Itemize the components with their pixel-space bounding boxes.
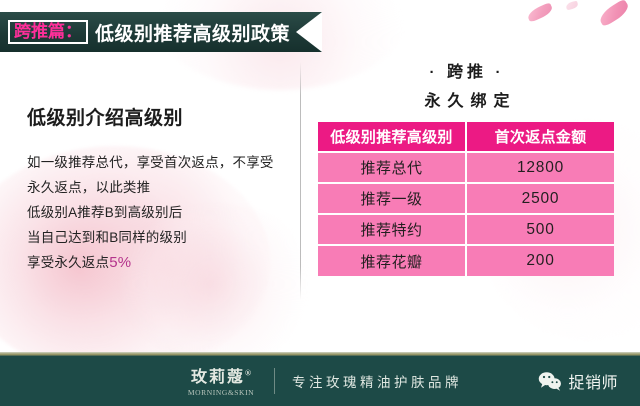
left-paragraph-4: 享受永久返点5% (27, 250, 289, 275)
column-header-level: 低级别推荐高级别 (318, 122, 466, 152)
table-row: 推荐总代 12800 (318, 152, 614, 183)
table-title-line1: · 跨推 · (318, 58, 616, 82)
left-body-text: 如一级推荐总代，享受首次返点，不享受永久返点，以此类推 低级别A推荐B到高级别后… (27, 150, 289, 275)
table-header-row: 低级别推荐高级别 首次返点金额 (318, 122, 614, 152)
footer-bar: 玫莉蔻® MORNING&SKIN 专注玫瑰精油护肤品牌 捉销师 (0, 356, 640, 406)
cell-amount: 200 (466, 245, 614, 276)
table-row: 推荐一级 2500 (318, 183, 614, 214)
left-paragraph-2: 低级别A推荐B到高级别后 (27, 200, 289, 225)
cell-level: 推荐一级 (318, 183, 466, 214)
petal-icon (526, 2, 554, 23)
cell-amount: 500 (466, 214, 614, 245)
table-row: 推荐特约 500 (318, 214, 614, 245)
column-header-amount: 首次返点金额 (466, 122, 614, 152)
brand-name-text: 玫莉蔻 (191, 369, 245, 386)
right-content-pane: · 跨推 · 永久绑定 低级别推荐高级别 首次返点金额 推荐总代 12800 推… (318, 58, 616, 276)
decorative-dot-right: · (495, 64, 504, 81)
left-paragraph-3: 当自己达到和B同样的级别 (27, 225, 289, 250)
brand-name-cn: 玫莉蔻® (191, 363, 251, 387)
petal-icon (565, 1, 578, 11)
petal-icon (597, 0, 632, 27)
brand-name-en: MORNING&SKIN (178, 388, 264, 397)
table-row: 推荐花瓣 200 (318, 245, 614, 276)
cell-level: 推荐花瓣 (318, 245, 466, 276)
slide-canvas: 跨推篇： 低级别推荐高级别政策 低级别介绍高级别 如一级推荐总代，享受首次返点，… (0, 0, 640, 406)
cell-amount: 2500 (466, 183, 614, 214)
ribbon-notch-shape (296, 12, 322, 52)
rebate-table: 低级别推荐高级别 首次返点金额 推荐总代 12800 推荐一级 2500 推荐特… (318, 122, 614, 276)
page-title: 低级别推荐高级别政策 (95, 19, 290, 46)
left-heading: 低级别介绍高级别 (27, 103, 289, 130)
left-content-pane: 低级别介绍高级别 如一级推荐总代，享受首次返点，不享受永久返点，以此类推 低级别… (27, 103, 289, 275)
cell-amount: 12800 (466, 152, 614, 183)
wechat-icon (538, 371, 562, 391)
rebate-percent-highlight: 5% (109, 254, 131, 271)
header-banner: 跨推篇： 低级别推荐高级别政策 (0, 12, 322, 52)
left-paragraph-1: 如一级推荐总代，享受首次返点，不享受永久返点，以此类推 (27, 150, 285, 200)
footer-separator (274, 368, 275, 394)
decorative-dot-left: · (430, 64, 439, 81)
table-title-line2: 永久绑定 (318, 87, 616, 111)
left-paragraph-4-prefix: 享受永久返点 (27, 255, 109, 270)
registered-mark-icon: ® (245, 369, 251, 378)
brand-logo: 玫莉蔻® MORNING&SKIN (178, 363, 264, 397)
header-tag: 跨推篇： (8, 20, 88, 45)
table-title-main: 跨推 (447, 64, 487, 81)
wechat-label: 捉销师 (568, 369, 618, 393)
cell-level: 推荐总代 (318, 152, 466, 183)
brand-slogan: 专注玫瑰精油护肤品牌 (292, 371, 462, 391)
cell-level: 推荐特约 (318, 214, 466, 245)
vertical-divider (300, 62, 301, 300)
wechat-account[interactable]: 捉销师 (538, 369, 618, 393)
